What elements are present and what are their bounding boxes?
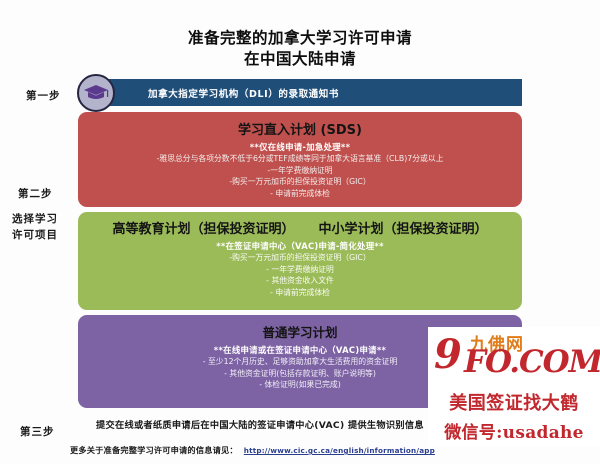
panel-sds-line-1: -雅思总分与各项分数不低于6分或TEF成绩等同于加拿大语言基准（CLB)7分或以… [78, 153, 522, 164]
panel-sds-line-2: -一年学费缴纳证明 [78, 165, 522, 176]
panel-green-line-3: - 其他资金收入文件 [78, 275, 522, 286]
watermark-overlay: 9 九佛网 FO.COM 美国签证找大鹤 微信号:usadahe [428, 327, 600, 447]
panel-green-line-4: - 申请前完成体检 [78, 287, 522, 298]
page-title: 准备完整的加拿大学习许可申请 在中国大陆申请 [0, 28, 600, 70]
watermark-logo: 9 九佛网 FO.COM [428, 327, 600, 385]
watermark-focom: FO.COM [464, 345, 600, 379]
step-2-sub-line2: 许可项目 [12, 228, 58, 243]
step-3-label: 第三步 [20, 424, 55, 439]
watermark-nine: 9 [434, 335, 462, 375]
more-info-link[interactable]: http://www.cic.gc.ca/english/information… [244, 446, 435, 455]
infographic-page: 准备完整的加拿大学习许可申请 在中国大陆申请 第一步 加拿大指定学习机构（DLI… [0, 0, 600, 464]
panel-green-heading: 高等教育计划（担保投资证明） 中小学计划（担保投资证明） [78, 212, 522, 237]
page-title-line1: 准备完整的加拿大学习许可申请 [0, 28, 600, 49]
panel-sds-line-0: **仅在线申请-加急处理** [78, 142, 522, 153]
watermark-line-2: 微信号:usadahe [428, 418, 600, 443]
page-title-line2: 在中国大陆申请 [0, 49, 600, 70]
panel-green-lines: **在签证申请中心（VAC)申请-简化处理** -购买一万元加币的担保投资证明（… [78, 241, 522, 298]
watermark-line-1: 美国签证找大鹤 [428, 389, 600, 415]
dli-banner-text: 加拿大指定学习机构（DLI）的录取通知书 [148, 86, 339, 100]
panel-sds-line-4: - 申请前完成体检 [78, 188, 522, 199]
panel-green-line-0: **在签证申请中心（VAC)申请-简化处理** [78, 241, 522, 252]
panel-sds: 学习直入计划 (SDS) **仅在线申请-加急处理** -雅思总分与各项分数不低… [78, 112, 522, 207]
more-info-label: 更多关于准备完整学习许可申请的信息请见： [70, 445, 238, 455]
panel-green-line-1: -购买一万元加币的担保投资证明（GIC） [78, 252, 522, 263]
dli-banner: 加拿大指定学习机构（DLI）的录取通知书 [96, 79, 522, 106]
panel-green-line-2: - 一年学费缴纳证明 [78, 264, 522, 275]
panel-higher-education-and-k12: 高等教育计划（担保投资证明） 中小学计划（担保投资证明） **在签证申请中心（V… [78, 212, 522, 310]
step-2-sub-line1: 选择学习 [12, 212, 58, 227]
more-info-line: 更多关于准备完整学习许可申请的信息请见：http://www.cic.gc.ca… [70, 444, 490, 456]
graduation-cap-icon [77, 74, 115, 112]
panel-sds-line-3: -购买一万元加币的担保投资证明（GIC） [78, 176, 522, 187]
panel-green-heading-right: 中小学计划（担保投资证明） [319, 218, 488, 237]
panel-sds-heading: 学习直入计划 (SDS) [78, 112, 522, 138]
step-1-label: 第一步 [26, 88, 61, 103]
step-2-label: 第二步 [18, 186, 53, 201]
panel-green-heading-left: 高等教育计划（担保投资证明） [112, 218, 294, 237]
panel-sds-lines: **仅在线申请-加急处理** -雅思总分与各项分数不低于6分或TEF成绩等同于加… [78, 142, 522, 199]
